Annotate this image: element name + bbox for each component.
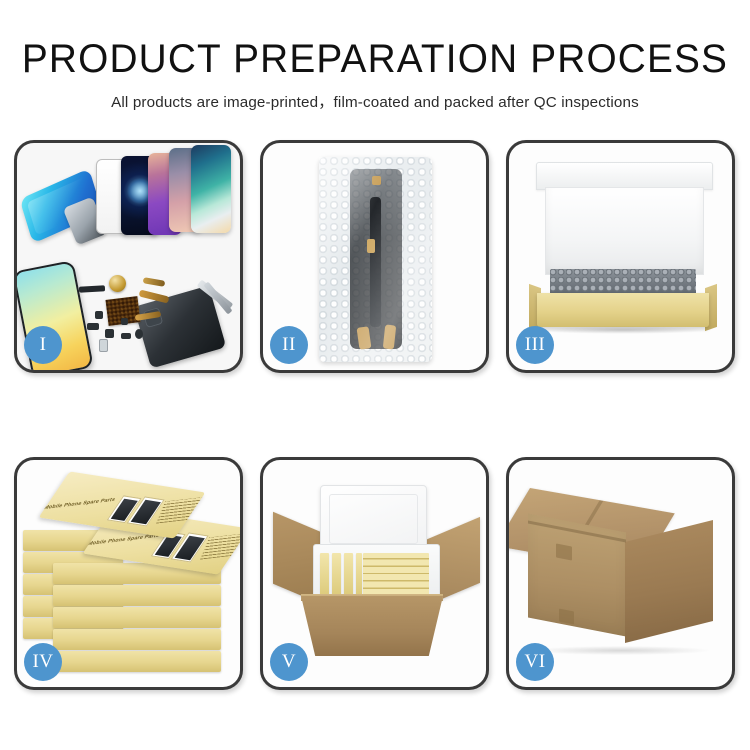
step-panel-4: Mobile Phone Spare Parts Mobile Phone Sp… xyxy=(14,457,243,690)
packed-yellow-box-2 xyxy=(332,553,341,595)
page-title: PRODUCT PREPARATION PROCESS xyxy=(11,0,739,80)
box-label-text-2: Mobile Phone Spare Parts xyxy=(87,533,160,547)
gray-bubble-wrapped-items xyxy=(550,269,696,295)
inner-box-front xyxy=(537,293,709,327)
adhesive-tab-top xyxy=(372,176,381,185)
adhesive-tab-bottom-left xyxy=(357,326,372,349)
header: PRODUCT PREPARATION PROCESS All products… xyxy=(0,0,750,112)
step-panel-6: VI xyxy=(506,457,735,690)
small-part-3 xyxy=(105,329,114,338)
carton-tape-lower xyxy=(559,609,574,625)
stacked-box-f5 xyxy=(53,651,221,672)
stacked-box-f3 xyxy=(53,607,221,628)
process-step-grid: I II xyxy=(14,140,736,690)
sim-tray xyxy=(99,339,108,352)
stacked-box-f2 xyxy=(53,585,221,606)
step-badge-4: IV xyxy=(24,643,62,681)
speaker-module xyxy=(109,275,126,292)
carton-tape-upper xyxy=(556,543,572,560)
step-panel-3: III xyxy=(506,140,735,373)
white-foam-liner xyxy=(545,187,704,275)
step-badge-6: VI xyxy=(516,643,554,681)
packed-yellow-box-4 xyxy=(356,553,362,595)
carton-right-face xyxy=(625,520,713,643)
packed-yellow-box-1 xyxy=(320,553,329,595)
step-panel-2: II xyxy=(260,140,489,373)
adhesive-tab-bottom-right xyxy=(383,324,396,349)
earpiece-mesh xyxy=(79,285,105,292)
carton-front-face xyxy=(301,596,443,656)
wrapped-flex-cable xyxy=(370,197,381,327)
drop-shadow xyxy=(537,326,709,334)
step-panel-5: V xyxy=(260,457,489,690)
small-part-6 xyxy=(121,318,128,325)
bubble-wrap-bag xyxy=(319,157,432,362)
page-subtitle: All products are image-printed，film-coat… xyxy=(0,80,750,112)
step-badge-1: I xyxy=(24,326,62,364)
styrofoam-lid xyxy=(320,485,427,553)
adhesive-tab-middle xyxy=(367,239,375,253)
small-part-5 xyxy=(135,329,143,339)
packed-yellow-box-group xyxy=(363,553,429,595)
small-part-2 xyxy=(87,323,99,330)
small-part-1 xyxy=(95,311,103,319)
step-panel-1: I xyxy=(14,140,243,373)
stacked-box-f4 xyxy=(53,629,221,650)
product-preparation-process-infographic: PRODUCT PREPARATION PROCESS All products… xyxy=(0,0,750,750)
stacked-box-lid-1: Mobile Phone Spare Parts xyxy=(39,471,206,538)
box-label-text-1: Mobile Phone Spare Parts xyxy=(43,497,116,511)
packed-yellow-box-3 xyxy=(344,553,353,595)
wrapped-lcd-part xyxy=(350,169,402,349)
flex-cable-3 xyxy=(143,277,166,287)
small-part-4 xyxy=(121,333,131,339)
drop-shadow xyxy=(533,646,709,655)
step-badge-3: III xyxy=(516,326,554,364)
phone-teal xyxy=(191,145,231,233)
step-badge-2: II xyxy=(270,326,308,364)
step-badge-5: V xyxy=(270,643,308,681)
foam-lid-flap xyxy=(536,162,713,190)
